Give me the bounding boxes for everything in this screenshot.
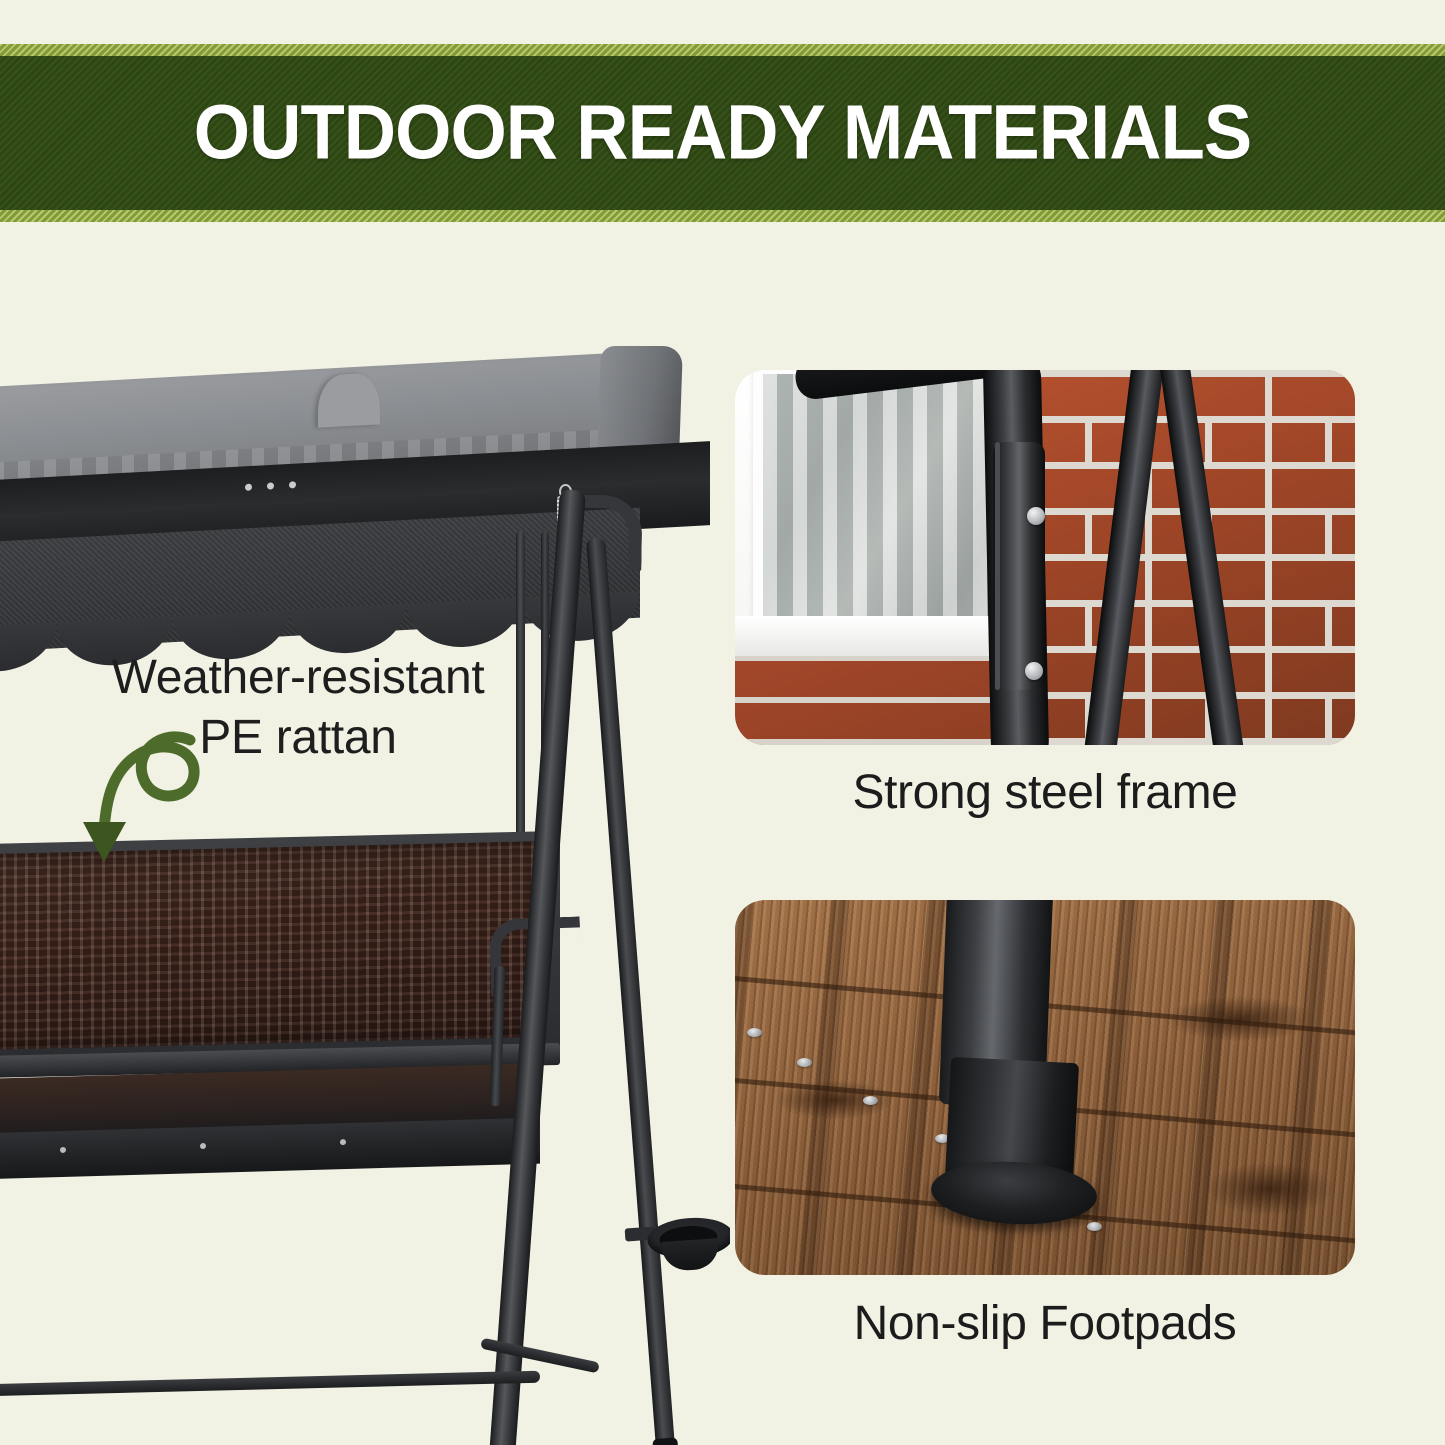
inset-strong-steel-frame — [735, 370, 1355, 745]
caption-non-slip-footpads: Non-slip Footpads — [735, 1296, 1355, 1351]
deck-screw-1 — [747, 1028, 762, 1037]
rear-support-leg — [586, 537, 676, 1445]
deck-screw-3 — [863, 1096, 878, 1105]
caption-strong-steel-frame: Strong steel frame — [735, 765, 1355, 820]
banner-top-accent-stripe — [0, 44, 1445, 56]
bolt-lower — [1025, 662, 1043, 680]
lower-cross-brace — [0, 1371, 540, 1398]
sleeve-seam — [995, 442, 1000, 690]
cup-holder — [646, 1215, 730, 1277]
steel-joint-sleeve — [993, 442, 1045, 690]
bolt-upper — [1027, 507, 1045, 525]
infographic-page: OUTDOOR READY MATERIALS — [0, 0, 1445, 1445]
deck-knot-1 — [1165, 996, 1315, 1042]
page-title: OUTDOOR READY MATERIALS — [43, 89, 1401, 178]
header-banner: OUTDOOR READY MATERIALS — [0, 44, 1445, 222]
callout-line-1: Weather-resistant — [112, 651, 485, 704]
banner-bottom-accent-stripe — [0, 210, 1445, 222]
inset-non-slip-footpads — [735, 900, 1355, 1275]
deck-knot-2 — [1205, 1162, 1335, 1216]
deck-screw-2 — [797, 1058, 812, 1067]
curly-arrow-icon — [70, 722, 260, 882]
